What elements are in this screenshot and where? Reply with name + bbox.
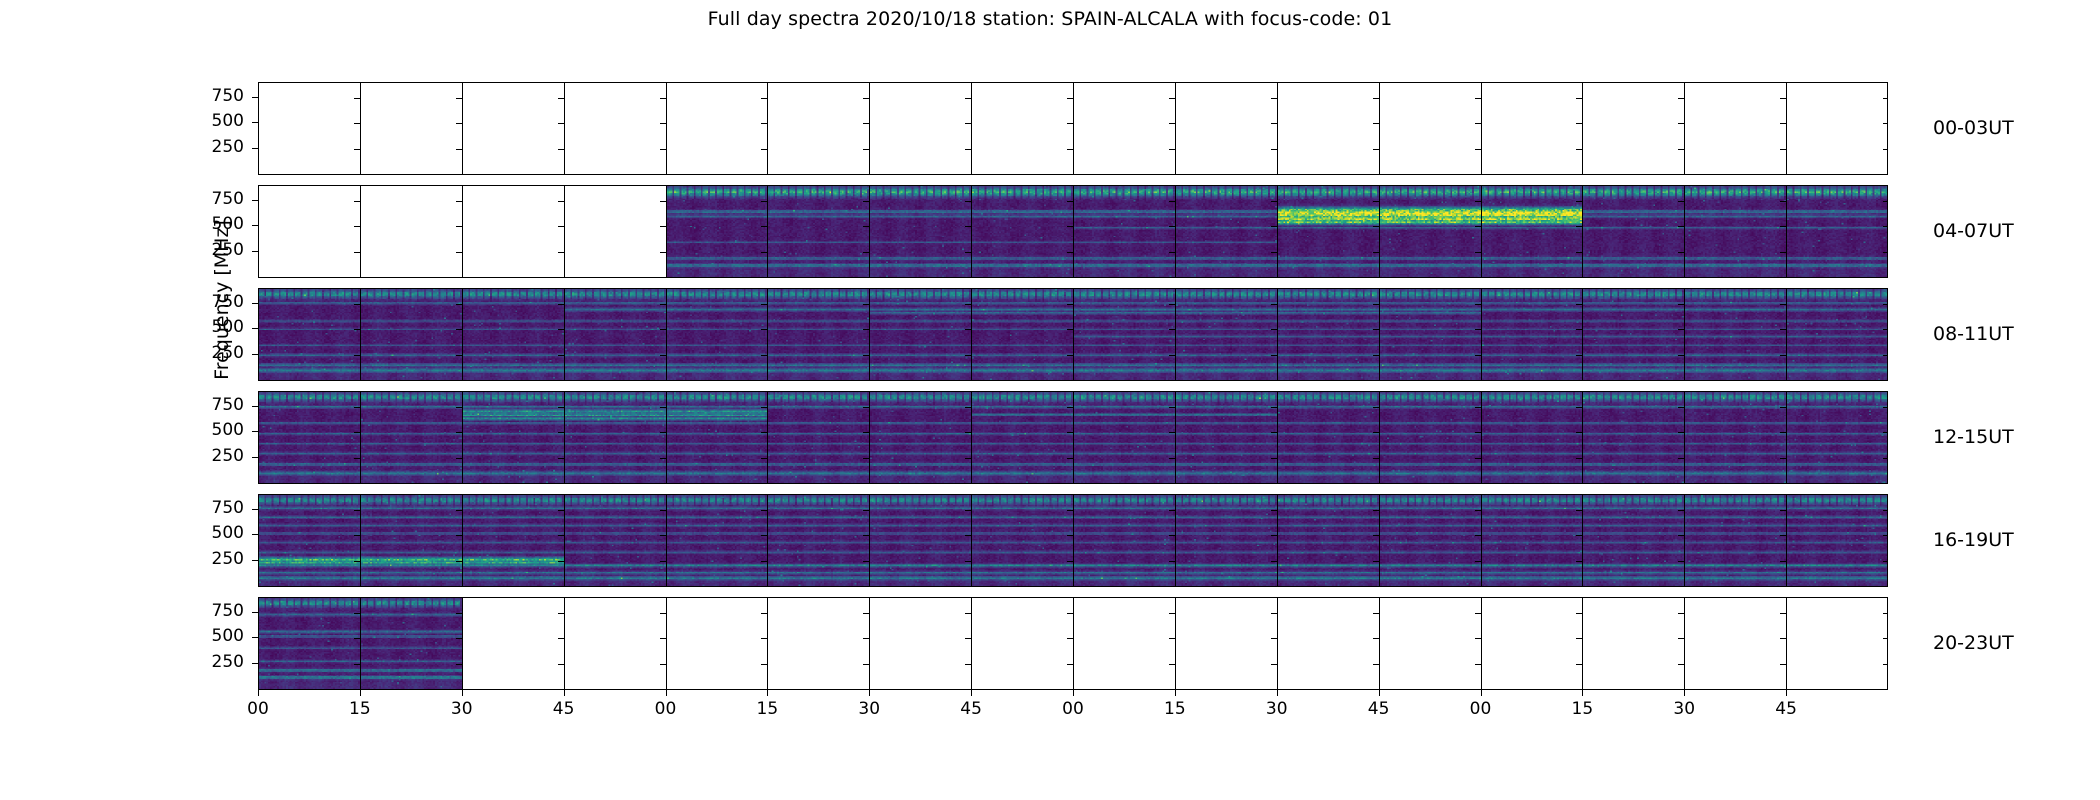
panel-tick-mark <box>1475 407 1481 408</box>
spectrogram-image <box>259 598 360 689</box>
y-tick-label: 250 <box>192 652 244 672</box>
x-tick-label: 15 <box>320 699 400 719</box>
panel-tick-mark <box>354 664 360 665</box>
spectrogram-image <box>972 186 1073 277</box>
panel-tick-mark <box>1883 458 1888 459</box>
spectrogram-image <box>259 392 360 483</box>
panel-tick-mark <box>660 458 666 459</box>
row-caption-08-11ut: 08-11UT <box>1933 323 2014 345</box>
panel-tick-mark <box>558 510 564 511</box>
y-tick-label: 500 <box>192 420 244 440</box>
panel-tick-mark <box>1271 561 1277 562</box>
panel-tick-mark <box>660 432 666 433</box>
panel-tick-mark <box>1576 535 1582 536</box>
y-tick-mark <box>252 534 258 535</box>
spectrogram-panel <box>870 598 972 689</box>
spectrogram-panel <box>1074 289 1176 380</box>
spectrogram-panel <box>768 392 870 483</box>
panel-tick-mark <box>354 535 360 536</box>
spectrogram-panel <box>1482 495 1584 586</box>
panel-tick-mark <box>1576 561 1582 562</box>
panel-tick-mark <box>1475 638 1481 639</box>
spectrogram-panel <box>463 598 565 689</box>
panel-tick-mark <box>558 123 564 124</box>
panel-tick-mark <box>1883 664 1888 665</box>
panel-tick-mark <box>1678 149 1684 150</box>
spectrogram-panel <box>259 83 361 174</box>
row-frame <box>258 391 1888 484</box>
spectrogram-image <box>1685 392 1786 483</box>
panel-tick-mark <box>863 458 869 459</box>
panel-tick-mark <box>863 226 869 227</box>
spectrogram-image <box>361 598 462 689</box>
spectrogram-panel <box>565 495 667 586</box>
spectrogram-panel <box>870 83 972 174</box>
y-tick-label: 750 <box>192 292 244 312</box>
panel-tick-mark <box>660 664 666 665</box>
panel-tick-mark <box>1169 304 1175 305</box>
panel-tick-mark <box>761 638 767 639</box>
spectrogram-panel <box>1685 186 1787 277</box>
panel-tick-mark <box>1883 201 1888 202</box>
spectrogram-image <box>1787 392 1888 483</box>
spectrogram-panel <box>972 495 1074 586</box>
spectrogram-image <box>972 495 1073 586</box>
spectrogram-image <box>870 186 971 277</box>
panel-tick-mark <box>761 329 767 330</box>
panel-tick-mark <box>1271 98 1277 99</box>
panel-tick-mark <box>1475 98 1481 99</box>
spectrogram-panel <box>1380 289 1482 380</box>
panel-tick-mark <box>1271 458 1277 459</box>
panel-tick-mark <box>354 432 360 433</box>
x-tick-mark <box>1786 690 1787 696</box>
panel-tick-mark <box>965 561 971 562</box>
panel-tick-mark <box>1373 123 1379 124</box>
panel-tick-mark <box>863 304 869 305</box>
panel-tick-mark <box>1883 535 1888 536</box>
spectrogram-panel <box>259 598 361 689</box>
y-tick-label: 500 <box>192 317 244 337</box>
spectrogram-panel <box>1074 186 1176 277</box>
panel-tick-mark <box>354 123 360 124</box>
panel-tick-mark <box>1067 355 1073 356</box>
spectrogram-image <box>1787 289 1888 380</box>
panel-tick-mark <box>1780 329 1786 330</box>
panel-tick-mark <box>558 561 564 562</box>
panel-tick-mark <box>1067 638 1073 639</box>
panel-tick-mark <box>1883 432 1888 433</box>
spectrogram-image <box>1583 495 1684 586</box>
panel-tick-mark <box>558 149 564 150</box>
panel-tick-mark <box>660 613 666 614</box>
spectrogram-image <box>259 289 360 380</box>
panel-tick-mark <box>1169 201 1175 202</box>
panel-tick-mark <box>1169 458 1175 459</box>
spectrogram-panel <box>1583 392 1685 483</box>
panel-tick-mark <box>1271 432 1277 433</box>
panel-tick-mark <box>761 201 767 202</box>
panel-tick-mark <box>1169 664 1175 665</box>
spectrogram-image <box>1787 186 1888 277</box>
x-tick-mark <box>258 690 259 696</box>
spectrogram-panel <box>1482 186 1584 277</box>
panel-tick-mark <box>1373 561 1379 562</box>
panel-tick-mark <box>1169 561 1175 562</box>
spectrogram-panel <box>768 83 870 174</box>
spectrogram-image <box>1074 186 1175 277</box>
panel-tick-mark <box>558 638 564 639</box>
spectrogram-panel <box>667 598 769 689</box>
panel-tick-mark <box>965 149 971 150</box>
panel-tick-mark <box>761 252 767 253</box>
y-tick-mark <box>252 431 258 432</box>
spectrogram-image <box>463 289 564 380</box>
panel-tick-mark <box>660 329 666 330</box>
spectrogram-image <box>1482 186 1583 277</box>
panel-tick-mark <box>1780 561 1786 562</box>
panel-tick-mark <box>1373 664 1379 665</box>
panel-tick-mark <box>1271 613 1277 614</box>
x-tick-mark <box>1481 690 1482 696</box>
panel-tick-mark <box>1169 613 1175 614</box>
spectrogram-image <box>1380 495 1481 586</box>
panel-tick-mark <box>1373 329 1379 330</box>
panel-tick-mark <box>1678 535 1684 536</box>
spectrogram-image <box>1074 289 1175 380</box>
panel-tick-mark <box>1169 329 1175 330</box>
spectrogram-image <box>1482 289 1583 380</box>
panel-tick-mark <box>558 304 564 305</box>
spectrogram-panel <box>667 392 769 483</box>
panel-tick-mark <box>863 561 869 562</box>
y-tick-mark <box>252 303 258 304</box>
spectrogram-image <box>1176 495 1277 586</box>
panel-tick-mark <box>660 201 666 202</box>
panel-tick-mark <box>1883 407 1888 408</box>
panel-tick-mark <box>1576 664 1582 665</box>
panel-tick-mark <box>1475 458 1481 459</box>
y-tick-mark <box>252 225 258 226</box>
panel-tick-mark <box>1475 664 1481 665</box>
spectrogram-panel <box>1685 83 1787 174</box>
panel-tick-mark <box>1883 98 1888 99</box>
spectrogram-panel <box>768 598 870 689</box>
panel-tick-mark <box>1678 407 1684 408</box>
panel-tick-mark <box>1373 149 1379 150</box>
spectrogram-panel <box>1074 392 1176 483</box>
panel-tick-mark <box>1169 226 1175 227</box>
panel-tick-mark <box>965 252 971 253</box>
spectrogram-panel <box>972 598 1074 689</box>
spectrogram-image <box>1685 495 1786 586</box>
panel-tick-mark <box>1475 123 1481 124</box>
panel-tick-mark <box>558 252 564 253</box>
row-frame <box>258 597 1888 690</box>
panel-tick-mark <box>1475 432 1481 433</box>
spectrogram-image <box>1482 392 1583 483</box>
panel-tick-mark <box>1678 432 1684 433</box>
y-tick-label: 750 <box>192 189 244 209</box>
spectrogram-panel <box>667 495 769 586</box>
panel-tick-mark <box>456 98 462 99</box>
panel-tick-mark <box>558 407 564 408</box>
panel-tick-mark <box>1271 407 1277 408</box>
spectrogram-image <box>1380 392 1481 483</box>
y-tick-mark <box>252 148 258 149</box>
spectrogram-image <box>565 289 666 380</box>
spectrogram-panel <box>361 598 463 689</box>
spectrogram-image <box>259 495 360 586</box>
panel-tick-mark <box>1271 252 1277 253</box>
row-frame <box>258 288 1888 381</box>
panel-tick-mark <box>660 355 666 356</box>
panel-tick-mark <box>456 201 462 202</box>
spectrogram-panel <box>1583 598 1685 689</box>
panel-tick-mark <box>1271 329 1277 330</box>
panel-tick-mark <box>1475 226 1481 227</box>
panel-tick-mark <box>354 98 360 99</box>
panel-tick-mark <box>761 613 767 614</box>
panel-tick-mark <box>660 638 666 639</box>
spectrogram-panel <box>1380 495 1482 586</box>
panel-tick-mark <box>1373 407 1379 408</box>
panel-tick-mark <box>1067 201 1073 202</box>
panel-tick-mark <box>1883 123 1888 124</box>
panel-tick-mark <box>558 201 564 202</box>
panel-tick-mark <box>558 355 564 356</box>
panel-tick-mark <box>1883 149 1888 150</box>
panel-tick-mark <box>1475 355 1481 356</box>
panel-tick-mark <box>1067 304 1073 305</box>
spectrogram-panel <box>463 186 565 277</box>
spectrogram-image <box>361 289 462 380</box>
panel-tick-mark <box>660 149 666 150</box>
spectrogram-panel <box>1685 598 1787 689</box>
panel-tick-mark <box>1576 304 1582 305</box>
panel-tick-mark <box>558 98 564 99</box>
spectrogram-panel <box>1176 598 1278 689</box>
panel-tick-mark <box>354 304 360 305</box>
spectrogram-panel <box>1685 392 1787 483</box>
spectrogram-row-00-03ut <box>258 82 1888 175</box>
spectrogram-image <box>1583 289 1684 380</box>
panel-tick-mark <box>456 664 462 665</box>
spectrogram-image <box>1074 495 1175 586</box>
panel-tick-mark <box>1576 407 1582 408</box>
panel-tick-mark <box>761 123 767 124</box>
panel-tick-mark <box>354 561 360 562</box>
spectrogram-image <box>1583 186 1684 277</box>
panel-tick-mark <box>863 98 869 99</box>
panel-tick-mark <box>761 664 767 665</box>
panel-tick-mark <box>1169 98 1175 99</box>
x-tick-mark <box>1073 690 1074 696</box>
spectrogram-panel <box>1482 289 1584 380</box>
spectrogram-panel <box>259 289 361 380</box>
spectrogram-panel <box>1380 83 1482 174</box>
panel-tick-mark <box>1678 201 1684 202</box>
panel-tick-mark <box>761 432 767 433</box>
spectrogram-panel <box>972 289 1074 380</box>
panel-tick-mark <box>1475 252 1481 253</box>
y-tick-label: 500 <box>192 111 244 131</box>
panel-tick-mark <box>965 123 971 124</box>
spectrogram-image <box>768 186 869 277</box>
panel-tick-mark <box>1780 407 1786 408</box>
spectrogram-panel <box>768 495 870 586</box>
panel-tick-mark <box>1780 613 1786 614</box>
y-tick-label: 500 <box>192 523 244 543</box>
spectrogram-panel <box>972 83 1074 174</box>
spectrogram-panel <box>1787 495 1888 586</box>
panel-tick-mark <box>456 535 462 536</box>
spectrogram-image <box>667 495 768 586</box>
panel-tick-mark <box>354 329 360 330</box>
y-tick-mark <box>252 457 258 458</box>
spectrogram-image <box>972 289 1073 380</box>
panel-tick-mark <box>1169 407 1175 408</box>
panel-tick-mark <box>1780 123 1786 124</box>
panel-tick-mark <box>1780 304 1786 305</box>
panel-tick-mark <box>1169 510 1175 511</box>
spectrogram-image <box>1482 495 1583 586</box>
spectrogram-image <box>1787 495 1888 586</box>
spectrogram-panel <box>972 392 1074 483</box>
panel-tick-mark <box>1067 123 1073 124</box>
spectrogram-panel <box>361 83 463 174</box>
x-tick-mark <box>971 690 972 696</box>
spectrogram-panel <box>1278 495 1380 586</box>
y-tick-label: 750 <box>192 395 244 415</box>
panel-tick-mark <box>863 613 869 614</box>
panel-tick-mark <box>1678 98 1684 99</box>
panel-tick-mark <box>1678 664 1684 665</box>
spectrogram-panel <box>259 495 361 586</box>
panel-tick-mark <box>863 252 869 253</box>
panel-tick-mark <box>1780 355 1786 356</box>
panel-tick-mark <box>761 561 767 562</box>
spectrogram-panel <box>1685 495 1787 586</box>
panel-tick-mark <box>1576 226 1582 227</box>
panel-tick-mark <box>863 664 869 665</box>
panel-tick-mark <box>456 458 462 459</box>
panel-tick-mark <box>965 458 971 459</box>
spectrogram-image <box>1278 289 1379 380</box>
spectrogram-panel <box>1787 392 1888 483</box>
spectrogram-panel <box>1583 83 1685 174</box>
panel-tick-mark <box>1883 226 1888 227</box>
panel-tick-mark <box>456 123 462 124</box>
panel-tick-mark <box>1678 561 1684 562</box>
spectrogram-panel <box>1176 186 1278 277</box>
spectrogram-panel <box>1583 289 1685 380</box>
panel-tick-mark <box>354 510 360 511</box>
panel-tick-mark <box>1780 638 1786 639</box>
panel-tick-mark <box>354 458 360 459</box>
panel-tick-mark <box>1373 638 1379 639</box>
spectrogram-panel <box>1685 289 1787 380</box>
panel-tick-mark <box>1475 201 1481 202</box>
y-tick-label: 250 <box>192 343 244 363</box>
spectrogram-panel <box>1278 186 1380 277</box>
y-tick-mark <box>252 560 258 561</box>
panel-tick-mark <box>1169 432 1175 433</box>
panel-tick-mark <box>761 98 767 99</box>
x-tick-mark <box>1684 690 1685 696</box>
spectrogram-panel <box>565 289 667 380</box>
spectrogram-image <box>667 186 768 277</box>
panel-tick-mark <box>965 355 971 356</box>
panel-tick-mark <box>1475 535 1481 536</box>
panel-tick-mark <box>965 201 971 202</box>
panel-tick-mark <box>1271 510 1277 511</box>
panel-tick-mark <box>1271 355 1277 356</box>
spectrogram-panel <box>1074 83 1176 174</box>
panel-tick-mark <box>1576 458 1582 459</box>
y-tick-label: 250 <box>192 549 244 569</box>
spectrogram-panel <box>1278 598 1380 689</box>
spectrogram-image <box>463 495 564 586</box>
y-tick-label: 500 <box>192 626 244 646</box>
panel-tick-mark <box>1475 613 1481 614</box>
panel-tick-mark <box>1883 252 1888 253</box>
panel-tick-mark <box>1373 226 1379 227</box>
panel-tick-mark <box>1475 329 1481 330</box>
page-title: Full day spectra 2020/10/18 station: SPA… <box>0 8 2100 30</box>
panel-tick-mark <box>863 432 869 433</box>
spectrogram-panel <box>361 392 463 483</box>
panel-tick-mark <box>1678 123 1684 124</box>
spectrogram-panel <box>1482 598 1584 689</box>
panel-tick-mark <box>1067 252 1073 253</box>
spectrogram-figure: Full day spectra 2020/10/18 station: SPA… <box>0 0 2100 800</box>
row-caption-16-19ut: 16-19UT <box>1933 529 2014 551</box>
panel-tick-mark <box>1373 201 1379 202</box>
spectrogram-image <box>667 289 768 380</box>
panel-tick-mark <box>965 535 971 536</box>
panel-tick-mark <box>1678 355 1684 356</box>
panel-tick-mark <box>456 432 462 433</box>
x-tick-label: 30 <box>1237 699 1317 719</box>
panel-tick-mark <box>660 252 666 253</box>
panel-tick-mark <box>965 613 971 614</box>
panel-tick-mark <box>1883 638 1888 639</box>
y-tick-label: 750 <box>192 601 244 621</box>
x-tick-label: 45 <box>524 699 604 719</box>
panel-tick-mark <box>1576 252 1582 253</box>
spectrogram-panel <box>870 186 972 277</box>
y-tick-label: 250 <box>192 240 244 260</box>
panel-tick-mark <box>965 510 971 511</box>
panel-tick-mark <box>1780 535 1786 536</box>
spectrogram-row-04-07ut <box>258 185 1888 278</box>
x-tick-label: 15 <box>727 699 807 719</box>
panel-tick-mark <box>965 407 971 408</box>
spectrogram-image <box>1176 289 1277 380</box>
y-tick-mark <box>252 251 258 252</box>
panel-tick-mark <box>1678 329 1684 330</box>
panel-tick-mark <box>1883 304 1888 305</box>
y-tick-mark <box>252 663 258 664</box>
panel-tick-mark <box>660 510 666 511</box>
x-tick-mark <box>666 690 667 696</box>
spectrogram-image <box>565 392 666 483</box>
panel-tick-mark <box>1271 304 1277 305</box>
panel-tick-mark <box>1067 432 1073 433</box>
panel-tick-mark <box>1271 638 1277 639</box>
spectrogram-panel <box>1278 83 1380 174</box>
